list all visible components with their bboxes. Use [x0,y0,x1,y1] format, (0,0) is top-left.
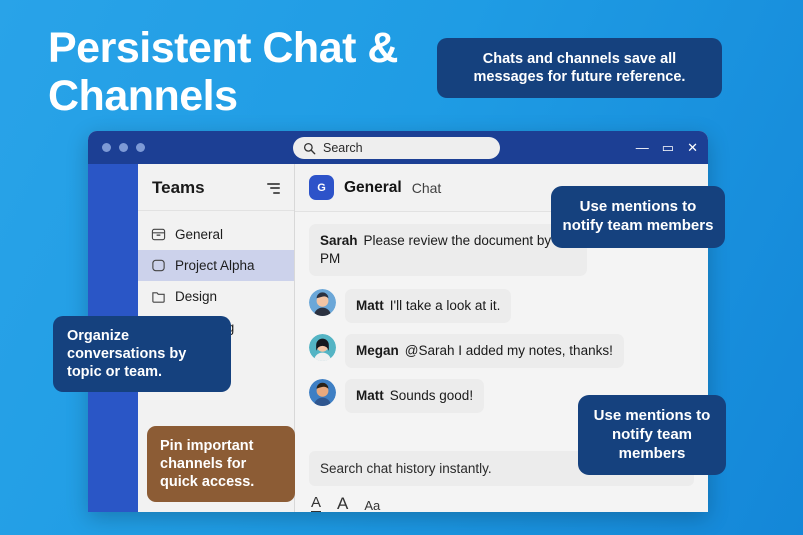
message-author: Sarah [320,233,358,248]
teams-title: Teams [152,178,205,198]
text-size-icon[interactable]: Aa [364,499,380,512]
rounded-square-icon [151,258,166,273]
search-input[interactable]: Search [293,137,500,159]
message-text: I'll take a look at it. [390,298,501,313]
promo-graphic: Persistent Chat & Channels Chats and cha… [0,0,803,535]
search-placeholder: Search [323,141,363,155]
maximize-button[interactable]: ▭ [662,141,674,154]
sidebar-item-general[interactable]: General [138,219,294,250]
page-title: Persistent Chat & Channels [48,24,448,120]
avatar [309,379,336,406]
underline-format-icon[interactable]: A [311,495,321,512]
channel-title: General [344,179,402,197]
sidebar-item-project-alpha[interactable]: Project Alpha [138,250,294,281]
search-icon [303,142,316,155]
archive-folder-icon [151,227,166,242]
avatar [309,334,336,361]
callout-pin: Pin important channels for quick access. [147,426,295,502]
sidebar-item-label: General [175,227,223,242]
avatar [309,289,336,316]
window-titlebar: Search — ▭ ✕ [88,131,708,164]
window-dot [119,143,128,152]
sidebar-item-label: Project Alpha [175,258,255,273]
font-format-icon[interactable]: A [337,495,348,512]
message-author: Megan [356,343,399,358]
window-dot [136,143,145,152]
sidebar-item-label: Design [175,289,217,304]
message-row: MattI'll take a look at it. [309,289,694,323]
message-row: Megan@Sarah I added my notes, thanks! [309,334,694,368]
window-dots [102,143,145,152]
message-text: Sounds good! [390,388,473,403]
channel-avatar: G [309,175,334,200]
teams-header: Teams [138,164,294,211]
tab-chat[interactable]: Chat [412,180,442,196]
message-bubble: SarahPlease review the document by 3 PM [309,224,587,276]
callout-mentions-bottom: Use mentions to notify team members [578,395,726,475]
filter-icon[interactable] [267,183,280,194]
close-button[interactable]: ✕ [687,141,698,154]
window-dot [102,143,111,152]
sidebar-item-design[interactable]: Design [138,281,294,312]
callout-persistence: Chats and channels save all messages for… [437,38,722,98]
format-toolbar: A A Aa [295,486,708,512]
message-author: Matt [356,388,384,403]
window-controls: — ▭ ✕ [636,131,698,164]
callout-organize: Organize conversations by topic or team. [53,316,231,392]
folder-icon [151,289,166,304]
message-text: @Sarah I added my notes, thanks! [405,343,613,358]
message-bubble: MattI'll take a look at it. [345,289,511,323]
message-bubble: Megan@Sarah I added my notes, thanks! [345,334,624,368]
minimize-button[interactable]: — [636,141,649,154]
message-bubble: MattSounds good! [345,379,484,413]
message-author: Matt [356,298,384,313]
callout-mentions-top: Use mentions to notify team members [551,186,725,248]
